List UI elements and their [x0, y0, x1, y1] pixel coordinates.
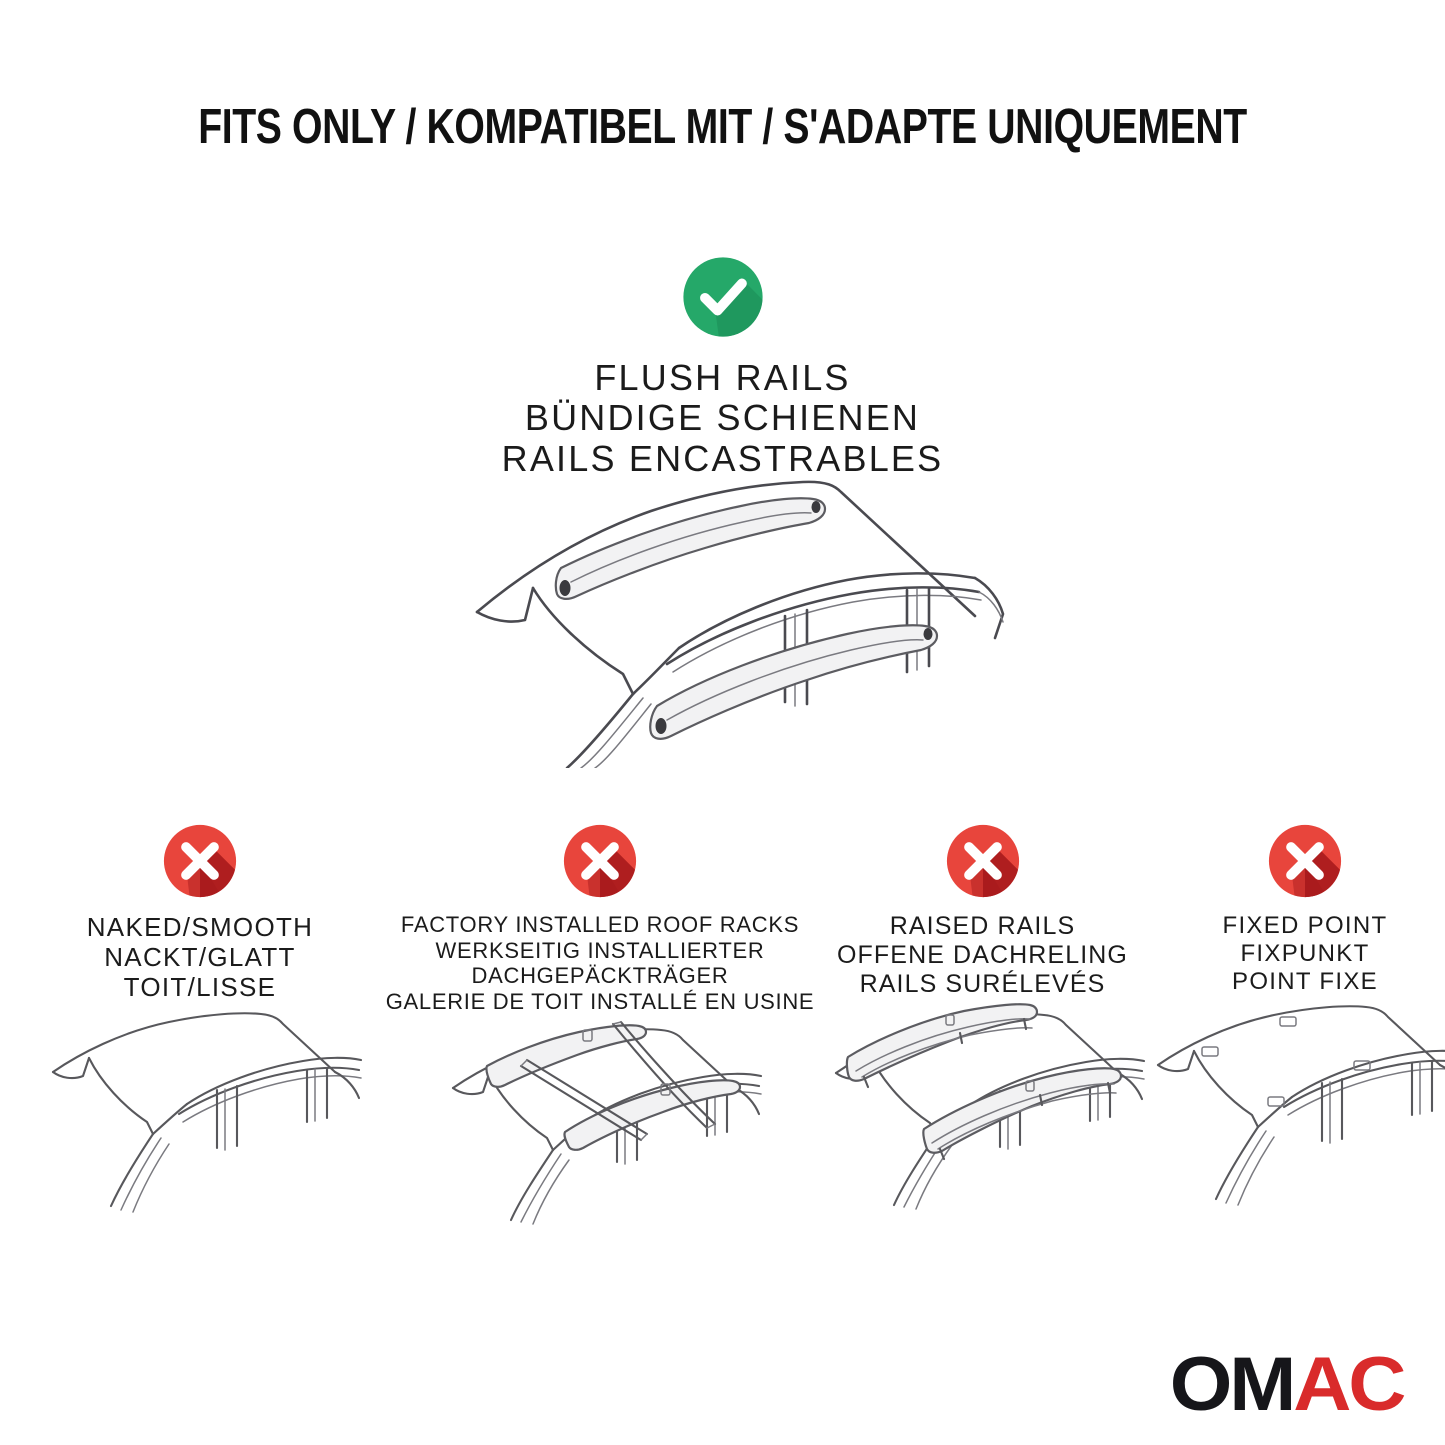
incompatible-item-raised-rails: RAISED RAILS OFFENE DACHRELING RAILS SUR… — [800, 820, 1165, 1231]
incompatible-item-fixed-point: FIXED POINT FIXPUNKT POINT FIXE — [1165, 820, 1445, 1231]
compatibility-infographic: FITS ONLY / KOMPATIBEL MIT / S'ADAPTE UN… — [0, 0, 1445, 1445]
compatible-label-de: BÜNDIGE SCHIENEN — [0, 398, 1445, 438]
car-roof-flush-rails-illustration — [455, 468, 1015, 768]
compatible-label-group: FLUSH RAILS BÜNDIGE SCHIENEN RAILS ENCAS… — [0, 358, 1445, 479]
incompatible-item-naked: NAKED/SMOOTH NACKT/GLATT TOIT/LISSE — [0, 820, 400, 1231]
car-roof-raised-rails-illustration — [818, 1001, 1148, 1216]
label-de: FIXPUNKT — [1223, 940, 1388, 968]
logo-text-dark: OM — [1170, 1342, 1293, 1427]
incompatible-label-group-factory-racks: FACTORY INSTALLED ROOF RACKS WERKSEITIG … — [386, 912, 815, 1014]
x-circle-icon — [942, 820, 1024, 902]
label-fr: POINT FIXE — [1223, 968, 1388, 996]
label-de-1: WERKSEITIG INSTALLIERTER — [386, 938, 815, 964]
car-roof-fixed-point-illustration — [1140, 1003, 1445, 1218]
car-roof-factory-racks-illustration — [435, 1016, 765, 1231]
car-roof-naked-illustration — [35, 1010, 365, 1225]
label-en: RAISED RAILS — [837, 912, 1128, 941]
x-circle-icon — [559, 820, 641, 902]
label-fr: RAILS SURÉLEVÉS — [837, 970, 1128, 999]
compatible-badge-wrap — [0, 252, 1445, 342]
check-circle-icon — [678, 252, 768, 342]
incompatible-label-group-raised-rails: RAISED RAILS OFFENE DACHRELING RAILS SUR… — [837, 912, 1128, 999]
label-de: OFFENE DACHRELING — [837, 941, 1128, 970]
incompatible-item-factory-racks: FACTORY INSTALLED ROOF RACKS WERKSEITIG … — [400, 820, 800, 1231]
compatible-section: FLUSH RAILS BÜNDIGE SCHIENEN RAILS ENCAS… — [0, 252, 1445, 479]
incompatible-label-group-fixed-point: FIXED POINT FIXPUNKT POINT FIXE — [1223, 912, 1388, 995]
compatible-label-en: FLUSH RAILS — [0, 358, 1445, 398]
incompatible-label-group-naked: NAKED/SMOOTH NACKT/GLATT TOIT/LISSE — [87, 912, 314, 1002]
label-fr: GALERIE DE TOIT INSTALLÉ EN USINE — [386, 989, 815, 1015]
label-de-2: DACHGEPÄCKTRÄGER — [386, 963, 815, 989]
incompatible-columns: NAKED/SMOOTH NACKT/GLATT TOIT/LISSE — [0, 820, 1445, 1231]
x-circle-icon — [159, 820, 241, 902]
page-title: FITS ONLY / KOMPATIBEL MIT / S'ADAPTE UN… — [145, 103, 1301, 152]
logo-text-red: AC — [1293, 1342, 1403, 1427]
label-fr: TOIT/LISSE — [87, 972, 314, 1002]
label-en: FACTORY INSTALLED ROOF RACKS — [386, 912, 815, 938]
omac-logo: OMAC — [1170, 1347, 1403, 1423]
x-circle-icon — [1264, 820, 1346, 902]
label-en: FIXED POINT — [1223, 912, 1388, 940]
label-de: NACKT/GLATT — [87, 942, 314, 972]
label-en: NAKED/SMOOTH — [87, 912, 314, 942]
